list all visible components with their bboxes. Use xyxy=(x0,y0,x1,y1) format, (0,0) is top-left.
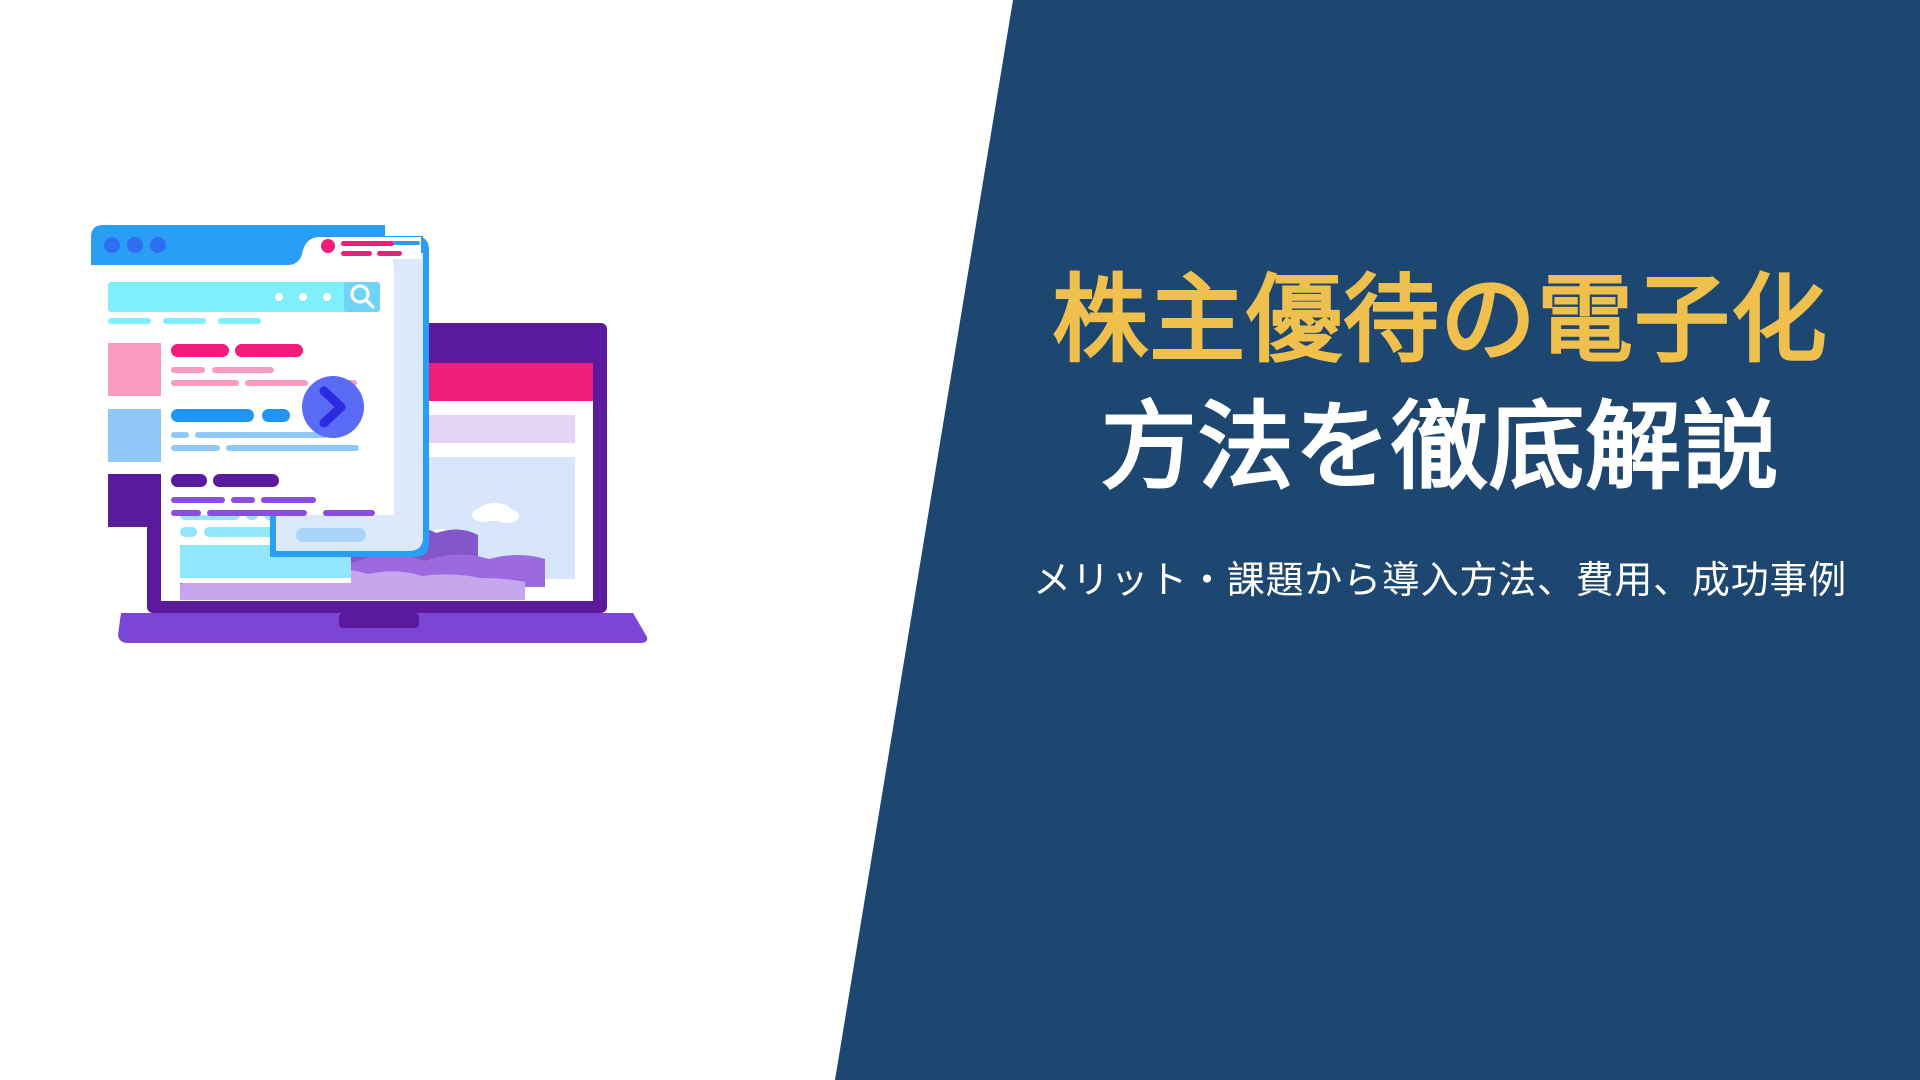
result-2-title-a xyxy=(171,409,254,422)
browser-tab-line-1 xyxy=(341,241,394,246)
search-suggestion-dot-1 xyxy=(275,293,283,301)
browser-tab-line-2 xyxy=(341,251,372,256)
laptop-card-line-2a xyxy=(180,527,197,537)
result-3-title-b xyxy=(213,474,279,487)
result-3-line-1c xyxy=(261,497,316,503)
result-2-thumbnail xyxy=(108,409,161,462)
browser-dot-1 xyxy=(104,237,120,253)
browser-dot-3 xyxy=(150,237,166,253)
result-3-title-a xyxy=(171,474,207,487)
illustration-svg xyxy=(85,225,665,655)
search-suggestion-dot-3 xyxy=(323,293,331,301)
next-arrow-circle[interactable] xyxy=(302,376,364,438)
laptop-card-line-2b xyxy=(204,527,278,537)
result-1-line-1b xyxy=(212,367,274,373)
poster-canvas: 株主優待の電子化 方法を徹底解説 メリット・課題から導入方法、費用、成功事例 xyxy=(0,0,1920,1080)
result-3-line-2c xyxy=(323,510,375,516)
result-2-line-1b xyxy=(195,432,327,438)
result-3-line-1b xyxy=(231,497,255,503)
result-1-line-2a xyxy=(171,380,239,386)
result-2-line-2b xyxy=(226,445,359,451)
result-3-line-2b xyxy=(207,510,307,516)
result-1-thumbnail xyxy=(108,343,161,396)
result-1-title-a xyxy=(171,344,229,357)
browser-tab-dot xyxy=(321,239,335,253)
browser-and-laptop-illustration xyxy=(85,225,665,655)
browser-window xyxy=(91,225,402,527)
result-3-line-1a xyxy=(171,497,225,503)
headline-block: 株主優待の電子化 方法を徹底解説 メリット・課題から導入方法、費用、成功事例 xyxy=(980,258,1900,609)
result-2-title-b xyxy=(262,409,290,422)
next-arrow-button[interactable] xyxy=(302,376,364,438)
browser-tab-line-3 xyxy=(377,251,402,256)
result-3-thumbnail xyxy=(108,474,161,527)
result-3-line-2a xyxy=(171,510,201,516)
search-input[interactable] xyxy=(108,282,380,312)
result-2-line-2a xyxy=(171,445,220,451)
browser-search-bar[interactable] xyxy=(108,282,380,312)
breadcrumb-1 xyxy=(108,318,151,324)
result-1-title-b xyxy=(235,344,303,357)
result-1-line-1a xyxy=(171,367,205,373)
subtitle: メリット・課題から導入方法、費用、成功事例 xyxy=(980,555,1900,608)
secondary-row-6 xyxy=(296,528,366,542)
breadcrumb-3 xyxy=(218,318,261,324)
result-2-line-1a xyxy=(171,432,189,438)
search-suggestion-dot-2 xyxy=(299,293,307,301)
browser-breadcrumbs xyxy=(108,318,261,324)
browser-dot-2 xyxy=(127,237,143,253)
laptop-trackpad-notch xyxy=(339,613,419,628)
breadcrumb-2 xyxy=(163,318,206,324)
result-1-line-2b xyxy=(245,380,308,386)
headline-line-1: 株主優待の電子化 xyxy=(980,258,1900,385)
headline-line-2: 方法を徹底解説 xyxy=(980,385,1900,512)
